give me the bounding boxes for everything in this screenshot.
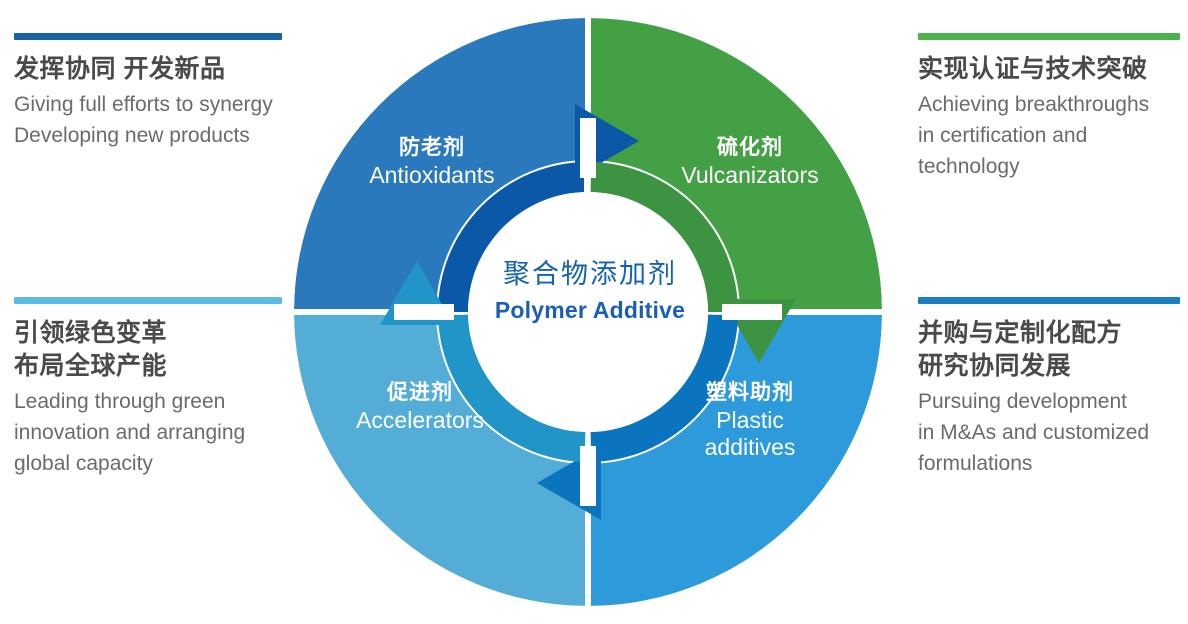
info-block-bottom-right: 并购与定制化配方 研究协同发展 Pursuing development in … [918,297,1188,480]
info-block-top-right: 实现认证与技术突破 Achieving breakthroughs in cer… [918,33,1188,183]
accent-bar-top-left [14,33,282,40]
info-block-bottom-left-body-en: Leading through green innovation and arr… [14,387,336,480]
info-block-top-left-heading-cn: 发挥协同 开发新品 [14,53,336,86]
polymer-additive-donut [294,18,882,606]
info-block-bottom-right-heading-cn: 并购与定制化配方 研究协同发展 [918,317,1188,383]
info-block-bottom-left-heading-cn: 引领绿色变革 布局全球产能 [14,317,336,383]
diagram-canvas: 发挥协同 开发新品 Giving full efforts to synergy… [0,0,1188,624]
donut-center-disc [468,192,708,432]
accent-bar-bottom-right [918,297,1180,304]
accent-bar-top-right [918,33,1180,40]
info-block-bottom-right-body-en: Pursuing development in M&As and customi… [918,387,1188,480]
info-block-top-left: 发挥协同 开发新品 Giving full efforts to synergy… [14,33,336,152]
info-block-top-left-body-en: Giving full efforts to synergy Developin… [14,90,336,152]
info-block-top-right-heading-cn: 实现认证与技术突破 [918,53,1188,86]
info-block-top-right-body-en: Achieving breakthroughs in certification… [918,90,1188,183]
info-block-bottom-left: 引领绿色变革 布局全球产能 Leading through green inno… [14,297,336,480]
accent-bar-bottom-left [14,297,282,304]
